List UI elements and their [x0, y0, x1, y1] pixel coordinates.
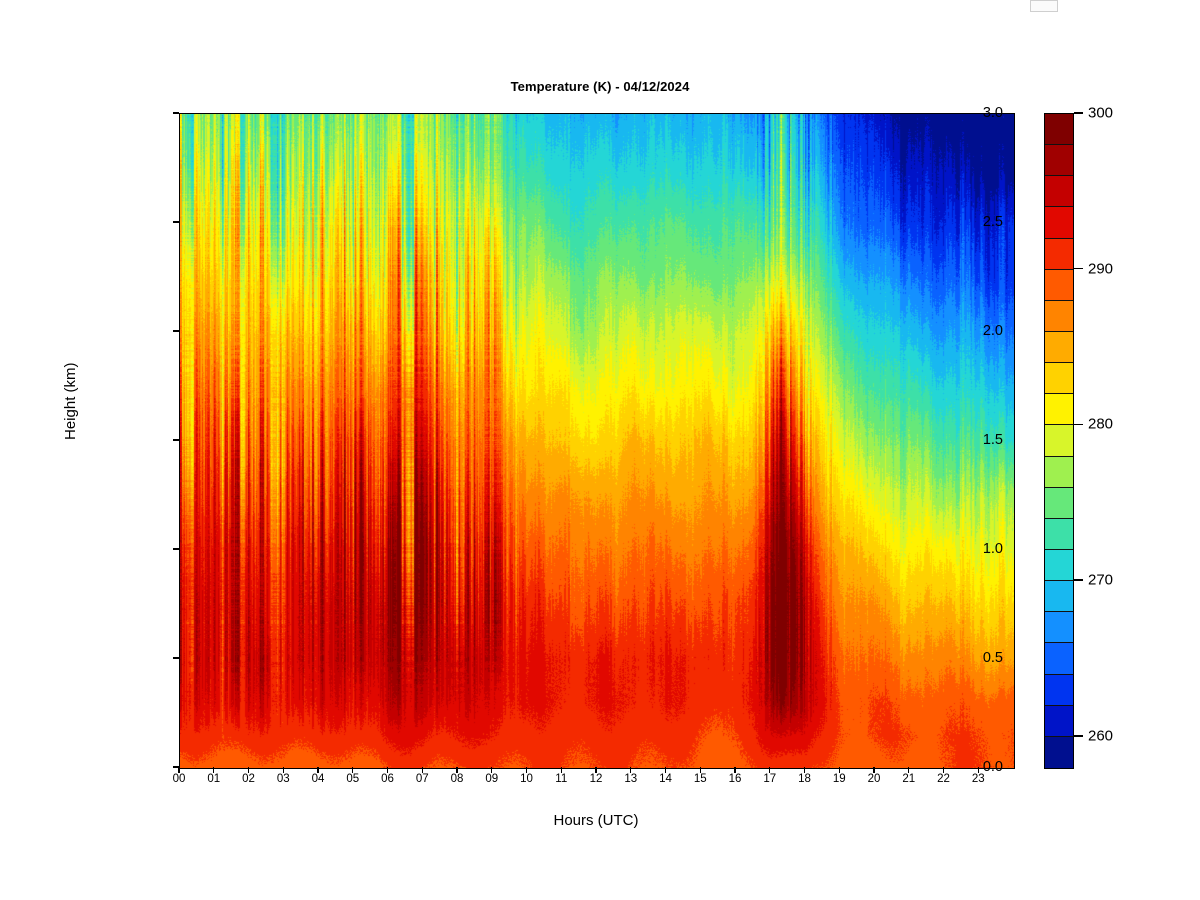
y-tick-label: 2.0	[983, 323, 1003, 339]
colorbar-band	[1045, 332, 1073, 363]
x-axis-title: Hours (UTC)	[179, 812, 1013, 829]
colorbar-band	[1045, 207, 1073, 238]
y-tick-label: 1.0	[983, 541, 1003, 557]
x-tick-label: 05	[346, 773, 359, 785]
colorbar-band	[1045, 114, 1073, 145]
colorbar-band	[1045, 643, 1073, 674]
colorbar-tick-label: 290	[1088, 260, 1113, 277]
x-tick-label: 20	[868, 773, 881, 785]
colorbar-tick-label: 280	[1088, 416, 1113, 433]
colorbar-band	[1045, 363, 1073, 394]
x-tick-label: 18	[798, 773, 811, 785]
chart-title: Temperature (K) - 04/12/2024	[0, 79, 1200, 94]
colorbar-band	[1045, 457, 1073, 488]
colorbar-tick-mark	[1074, 112, 1083, 113]
colorbar-band	[1045, 270, 1073, 301]
x-tick-label: 22	[937, 773, 950, 785]
y-tick-label: 0.5	[983, 650, 1003, 666]
colorbar	[1044, 113, 1074, 769]
colorbar-band	[1045, 581, 1073, 612]
y-tick-mark	[173, 112, 179, 113]
colorbar-tick-mark	[1074, 735, 1083, 736]
colorbar-band	[1045, 425, 1073, 456]
x-tick-label: 11	[555, 773, 567, 785]
x-tick-label: 01	[207, 773, 220, 785]
colorbar-band	[1045, 612, 1073, 643]
x-tick-label: 13	[624, 773, 637, 785]
x-tick-label: 08	[451, 773, 464, 785]
colorbar-tick-label: 260	[1088, 727, 1113, 744]
x-tick-label: 21	[902, 773, 915, 785]
x-tick-label: 15	[694, 773, 707, 785]
y-tick-mark	[173, 330, 179, 331]
x-tick-label: 16	[729, 773, 742, 785]
x-tick-label: 07	[416, 773, 429, 785]
y-tick-label: 1.5	[983, 432, 1003, 448]
y-tick-mark	[173, 439, 179, 440]
x-tick-label: 02	[242, 773, 255, 785]
y-tick-mark	[173, 657, 179, 658]
x-tick-label: 04	[312, 773, 325, 785]
colorbar-band	[1045, 488, 1073, 519]
colorbar-band	[1045, 239, 1073, 270]
colorbar-band	[1045, 301, 1073, 332]
x-tick-label: 06	[381, 773, 394, 785]
colorbar-band	[1045, 737, 1073, 768]
colorbar-band	[1045, 145, 1073, 176]
y-tick-label: 2.5	[983, 214, 1003, 230]
colorbar-band	[1045, 176, 1073, 207]
figure-root: Temperature (K) - 04/12/2024 0.00.51.01.…	[0, 0, 1200, 900]
x-tick-label: 23	[972, 773, 985, 785]
y-tick-mark	[173, 221, 179, 222]
x-tick-label: 19	[833, 773, 846, 785]
x-tick-label: 12	[590, 773, 603, 785]
y-tick-mark	[173, 548, 179, 549]
axes-overlay: 0.00.51.01.52.02.53.0 000102030405060708…	[179, 113, 1013, 767]
corner-artifact	[1030, 0, 1058, 12]
colorbar-tick-label: 270	[1088, 572, 1113, 589]
x-tick-label: 14	[659, 773, 672, 785]
x-tick-label: 09	[485, 773, 498, 785]
colorbar-band	[1045, 394, 1073, 425]
colorbar-band	[1045, 675, 1073, 706]
colorbar-tick-mark	[1074, 424, 1083, 425]
y-axis-title: Height (km)	[62, 362, 79, 440]
colorbar-tick-mark	[1074, 579, 1083, 580]
colorbar-band	[1045, 550, 1073, 581]
y-tick-label: 3.0	[983, 105, 1003, 121]
x-tick-label: 17	[763, 773, 776, 785]
colorbar-tick-label: 300	[1088, 105, 1113, 122]
colorbar-band	[1045, 519, 1073, 550]
x-tick-label: 00	[173, 773, 186, 785]
colorbar-band	[1045, 706, 1073, 737]
x-tick-label: 03	[277, 773, 290, 785]
colorbar-tick-mark	[1074, 268, 1083, 269]
x-tick-label: 10	[520, 773, 533, 785]
y-tick-label: 0.0	[983, 759, 1003, 775]
